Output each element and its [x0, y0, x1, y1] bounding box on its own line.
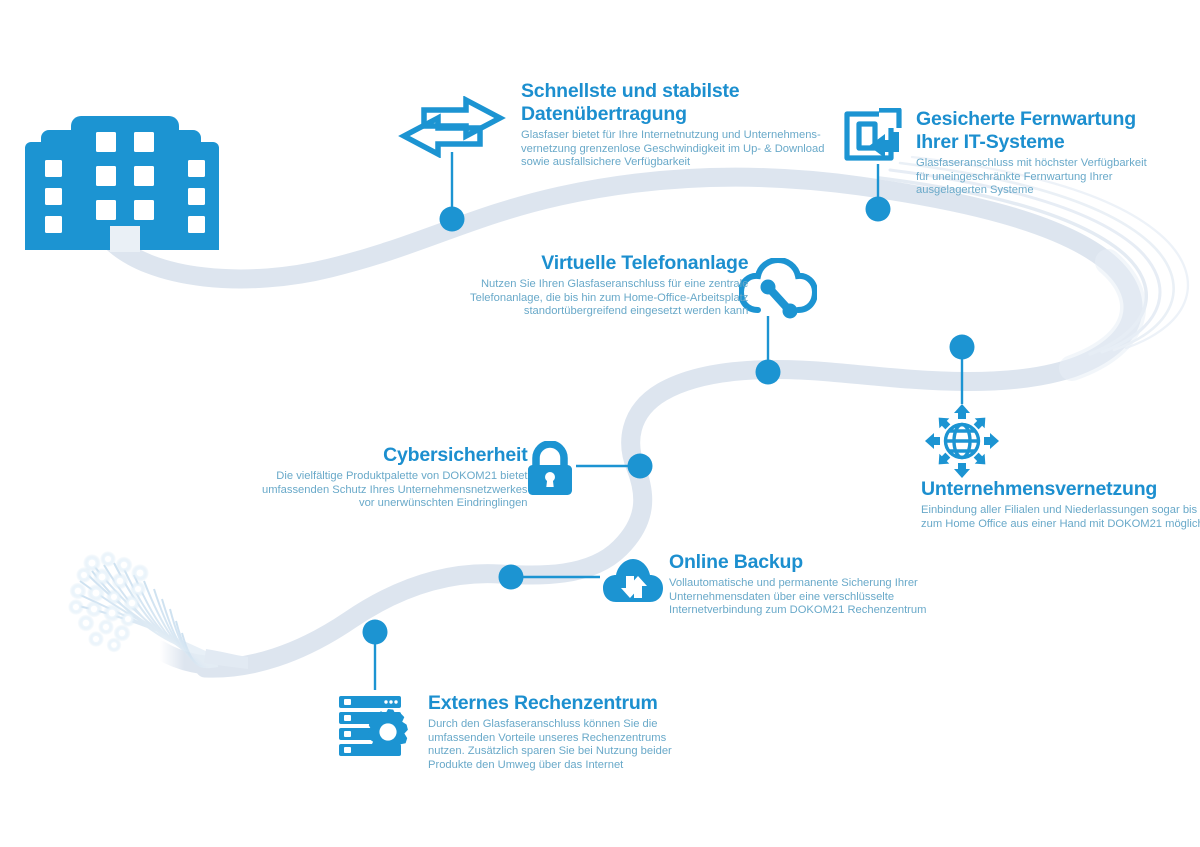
desc-line-2: Telefonanlage, die bis hin zum Home-Offi…: [470, 292, 748, 306]
feature-block-datacenter: Externes Rechenzentrum Durch den Glasfas…: [428, 692, 672, 772]
feature-title-datacenter: Externes Rechenzentrum: [428, 692, 672, 715]
desc-line-2: umfassenden Schutz Ihres Unternehmensnet…: [262, 484, 528, 498]
feature-title-cyber: Cybersicherheit: [262, 444, 528, 467]
feature-desc-speed: Glasfaser bietet für Ihre Internetnutzun…: [521, 129, 824, 170]
desc-line-3: nutzen. Zusätzlich sparen Sie bei Nutzun…: [428, 745, 672, 759]
title-line-2: Datenübertragung: [521, 103, 824, 126]
feature-block-speed: Schnellste und stabilste Datenübertragun…: [521, 80, 824, 170]
title-line-1: Virtuelle Telefonanlage: [541, 252, 748, 274]
desc-line-3: ausgelagerten Systeme: [916, 184, 1147, 198]
desc-line-3: sowie ausfallsichere Verfügbarkeit: [521, 156, 824, 170]
feature-desc-phone: Nutzen Sie Ihren Glasfaseranschluss für …: [470, 278, 748, 319]
desc-line-2: Unternehmensdaten über eine verschlüssel…: [669, 591, 926, 605]
double-arrow-icon: [398, 96, 506, 163]
server-gear-icon: [338, 694, 414, 761]
desc-line-3: Internetverbindung zum DOKOM21 Rechenzen…: [669, 604, 926, 618]
desc-line-4: Produkte den Umweg über das Internet: [428, 759, 672, 773]
title-line-1: Externes Rechenzentrum: [428, 692, 658, 714]
feature-title-speed: Schnellste und stabilste Datenübertragun…: [521, 80, 824, 126]
desc-line-2: vernetzung grenzenlose Geschwindigkeit i…: [521, 143, 824, 157]
feature-desc-network: Einbindung aller Filialen und Niederlass…: [921, 504, 1200, 531]
desc-line-1: Durch den Glasfaseranschluss können Sie …: [428, 718, 672, 732]
feature-desc-backup: Vollautomatische und permanente Sicherun…: [669, 577, 926, 618]
desc-line-2: für uneingeschränkte Fernwartung Ihrer: [916, 171, 1147, 185]
title-line-2: Ihrer IT-Systeme: [916, 131, 1147, 154]
globe-arrows-icon: [925, 404, 999, 483]
title-line-1: Schnellste und stabilste: [521, 80, 739, 102]
feature-block-cyber: Cybersicherheit Die vielfältige Produktp…: [262, 444, 528, 511]
feature-block-phone: Virtuelle Telefonanlage Nutzen Sie Ihren…: [470, 252, 748, 319]
desc-line-1: Glasfaser bietet für Ihre Internetnutzun…: [521, 129, 824, 143]
feature-title-phone: Virtuelle Telefonanlage: [470, 252, 748, 275]
feature-title-remote: Gesicherte Fernwartung Ihrer IT-Systeme: [916, 108, 1147, 154]
title-line-1: Gesicherte Fernwartung: [916, 108, 1136, 130]
padlock-icon: [524, 441, 576, 502]
node-dot-remote: [866, 197, 891, 222]
feature-desc-cyber: Die vielfältige Produktpalette von DOKOM…: [262, 470, 528, 511]
desc-line-1: Nutzen Sie Ihren Glasfaseranschluss für …: [470, 278, 748, 292]
remote-screen-arrow-icon: [843, 108, 903, 169]
cloud-phone-icon: [739, 258, 817, 325]
desc-line-1: Einbindung aller Filialen und Niederlass…: [921, 504, 1200, 518]
feature-block-remote: Gesicherte Fernwartung Ihrer IT-Systeme …: [916, 108, 1147, 198]
desc-line-1: Glasfaseranschluss mit höchster Verfügba…: [916, 157, 1147, 171]
fiber-optic-bundle-icon: [62, 545, 252, 675]
node-dot-speed: [440, 207, 465, 232]
title-line-1: Cybersicherheit: [383, 444, 527, 466]
infographic-canvas: Schnellste und stabilste Datenübertragun…: [0, 0, 1200, 847]
feature-title-backup: Online Backup: [669, 551, 926, 574]
title-line-1: Unternehmensvernetzung: [921, 478, 1157, 500]
office-building-icon: [25, 100, 225, 265]
title-line-1: Online Backup: [669, 551, 803, 573]
feature-block-network: Unternehmensvernetzung Einbindung aller …: [921, 478, 1200, 531]
desc-line-3: standortübergreifend eingesetzt werden k…: [470, 305, 748, 319]
node-dot-backup: [499, 565, 524, 590]
desc-line-1: Die vielfältige Produktpalette von DOKOM…: [262, 470, 528, 484]
feature-desc-datacenter: Durch den Glasfaseranschluss können Sie …: [428, 718, 672, 772]
desc-line-3: vor unerwünschten Eindringlingen: [262, 497, 528, 511]
node-dot-phone: [756, 360, 781, 385]
desc-line-2: umfassenden Vorteile unseres Rechenzentr…: [428, 732, 672, 746]
node-dot-cyber: [628, 454, 653, 479]
desc-line-1: Vollautomatische und permanente Sicherun…: [669, 577, 926, 591]
cloud-updown-arrows-icon: [602, 556, 664, 609]
feature-title-network: Unternehmensvernetzung: [921, 478, 1200, 501]
desc-line-2: zum Home Office aus einer Hand mit DOKOM…: [921, 518, 1200, 532]
feature-block-backup: Online Backup Vollautomatische und perma…: [669, 551, 926, 618]
node-dot-network: [950, 335, 975, 360]
feature-desc-remote: Glasfaseranschluss mit höchster Verfügba…: [916, 157, 1147, 198]
node-dot-datacenter: [363, 620, 388, 645]
